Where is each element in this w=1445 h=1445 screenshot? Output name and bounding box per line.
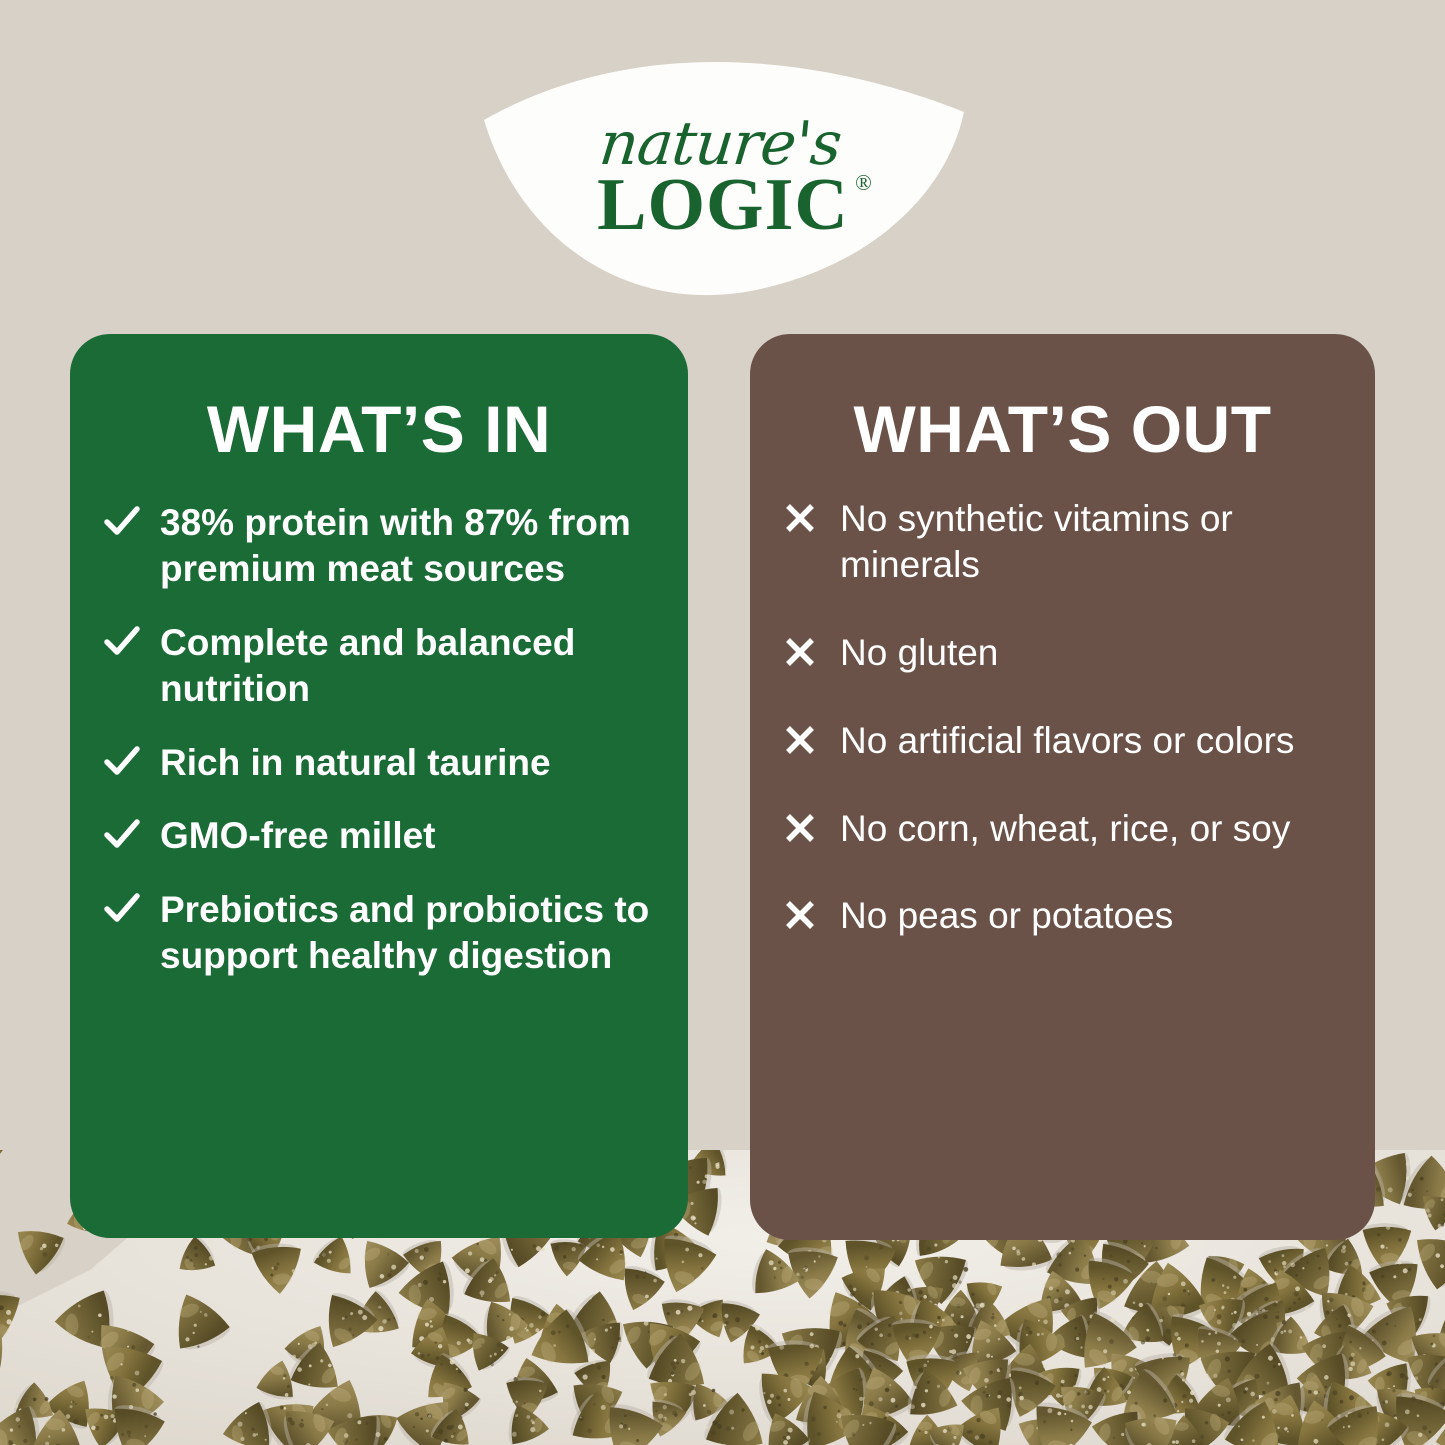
list-item-label: GMO-free millet [160, 813, 654, 859]
list-item: No corn, wheat, rice, or soy [784, 806, 1341, 852]
list-item: Complete and balanced nutrition [104, 620, 654, 712]
check-icon [104, 500, 160, 536]
list-item-label: 38% protein with 87% from premium meat s… [160, 500, 654, 592]
list-item-label: Prebiotics and probiotics to support hea… [160, 887, 654, 979]
whats-in-card: WHAT’S IN 38% protein with 87% from prem… [70, 334, 688, 1238]
whats-out-title: WHAT’S OUT [784, 396, 1341, 462]
cross-icon [784, 806, 840, 844]
check-icon [104, 620, 160, 656]
infographic-root: nature's LOGIC ® WHAT’S IN 38% protein w… [0, 0, 1445, 1445]
cross-icon [784, 893, 840, 931]
whats-out-list: No synthetic vitamins or minerals No glu… [784, 496, 1341, 939]
brand-logo: nature's LOGIC ® [478, 58, 968, 298]
list-item-label: No synthetic vitamins or minerals [840, 496, 1341, 588]
list-item: No peas or potatoes [784, 893, 1341, 939]
list-item: No artificial flavors or colors [784, 718, 1341, 764]
list-item: GMO-free millet [104, 813, 654, 859]
list-item-label: No peas or potatoes [840, 893, 1341, 939]
list-item: 38% protein with 87% from premium meat s… [104, 500, 654, 592]
whats-out-card: WHAT’S OUT No synthetic vitamins or mine… [750, 334, 1375, 1240]
logo-wordmark-text: LOGIC [597, 164, 849, 246]
list-item: No synthetic vitamins or minerals [784, 496, 1341, 588]
list-item: Rich in natural taurine [104, 740, 654, 786]
whats-in-list: 38% protein with 87% from premium meat s… [104, 500, 654, 979]
list-item-label: Rich in natural taurine [160, 740, 654, 786]
cross-icon [784, 496, 840, 534]
list-item: Prebiotics and probiotics to support hea… [104, 887, 654, 979]
list-item-label: No gluten [840, 630, 1341, 676]
registered-trademark-icon: ® [855, 172, 873, 194]
list-item-label: No artificial flavors or colors [840, 718, 1341, 764]
whats-in-title: WHAT’S IN [104, 396, 654, 462]
check-icon [104, 887, 160, 923]
cross-icon [784, 630, 840, 668]
check-icon [104, 813, 160, 849]
list-item-label: Complete and balanced nutrition [160, 620, 654, 712]
list-item-label: No corn, wheat, rice, or soy [840, 806, 1341, 852]
list-item: No gluten [784, 630, 1341, 676]
check-icon [104, 740, 160, 776]
cross-icon [784, 718, 840, 756]
logo-wordmark: LOGIC ® [597, 168, 849, 242]
